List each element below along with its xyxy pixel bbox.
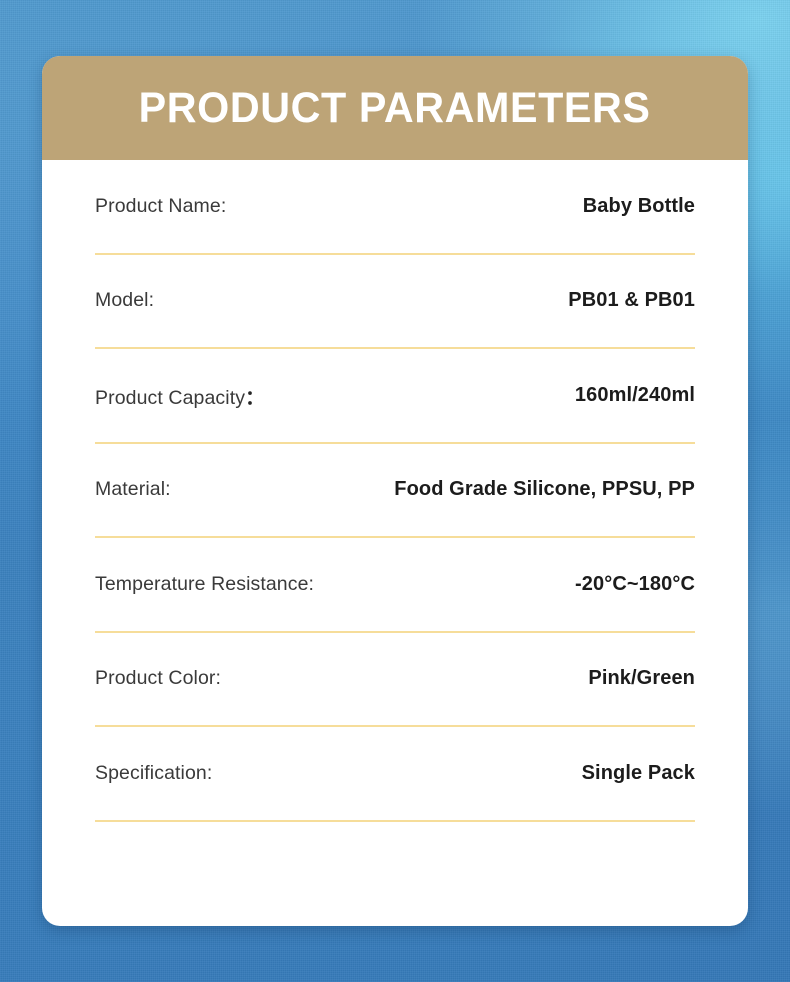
- specifications-list: Product Name: Baby Bottle Model: PB01 & …: [42, 160, 748, 926]
- spec-label: Model:: [95, 289, 154, 312]
- table-row: Model: PB01 & PB01: [95, 255, 695, 350]
- spec-label: Product Color:: [95, 667, 221, 690]
- spec-label: Product Name:: [95, 195, 226, 218]
- spec-value: Pink/Green: [588, 667, 695, 690]
- table-row: Specification: Single Pack: [95, 727, 695, 822]
- table-row: Temperature Resistance: -20°C~180°C: [95, 538, 695, 633]
- table-row: Product Capacity： 160ml/240ml: [95, 349, 695, 444]
- page-title: PRODUCT PARAMETERS: [139, 87, 651, 130]
- spec-value: Baby Bottle: [583, 195, 695, 218]
- spec-label: Temperature Resistance:: [95, 573, 314, 596]
- card-header: PRODUCT PARAMETERS: [42, 56, 748, 160]
- spec-label-colon: ：: [245, 387, 265, 409]
- spec-value: PB01 & PB01: [568, 289, 695, 312]
- spec-value: 160ml/240ml: [575, 384, 695, 407]
- spec-value: -20°C~180°C: [575, 573, 695, 596]
- spec-label: Product Capacity：: [95, 381, 265, 410]
- spec-value: Food Grade Silicone, PPSU, PP: [394, 478, 695, 501]
- product-parameters-card: PRODUCT PARAMETERS Product Name: Baby Bo…: [42, 56, 748, 926]
- spec-label: Specification:: [95, 762, 212, 785]
- table-row: Product Color: Pink/Green: [95, 633, 695, 728]
- spec-value: Single Pack: [582, 762, 695, 785]
- table-row: Product Name: Baby Bottle: [95, 160, 695, 255]
- spec-label-text: Product Capacity: [95, 387, 245, 409]
- spec-label: Material:: [95, 478, 171, 501]
- table-row: Material: Food Grade Silicone, PPSU, PP: [95, 444, 695, 539]
